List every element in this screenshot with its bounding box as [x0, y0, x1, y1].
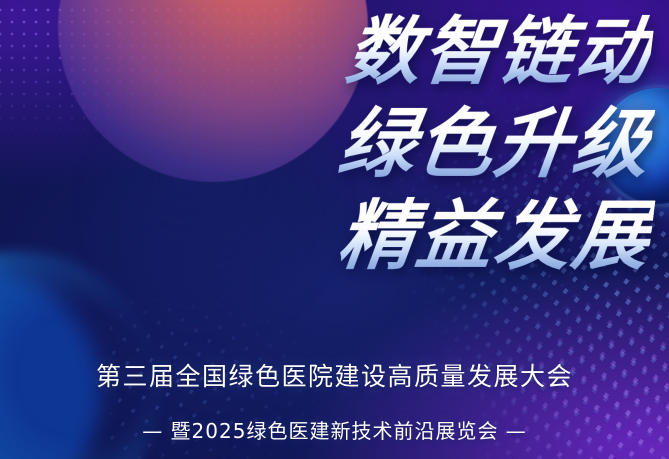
- headline-line-2: 绿色升级: [0, 98, 657, 190]
- exhibition-subtitle: — 暨2025绿色医建新技术前沿展览会 —: [0, 415, 669, 444]
- conference-title: 第三届全国绿色医院建设高质量发展大会: [0, 357, 669, 393]
- headline-line-1: 数智链动: [0, 6, 657, 98]
- headline-line-3: 精益发展: [0, 190, 657, 282]
- conference-poster: 数智链动 绿色升级 精益发展 第三届全国绿色医院建设高质量发展大会 — 暨202…: [0, 0, 669, 459]
- poster-headline: 数智链动 绿色升级 精益发展: [0, 6, 651, 282]
